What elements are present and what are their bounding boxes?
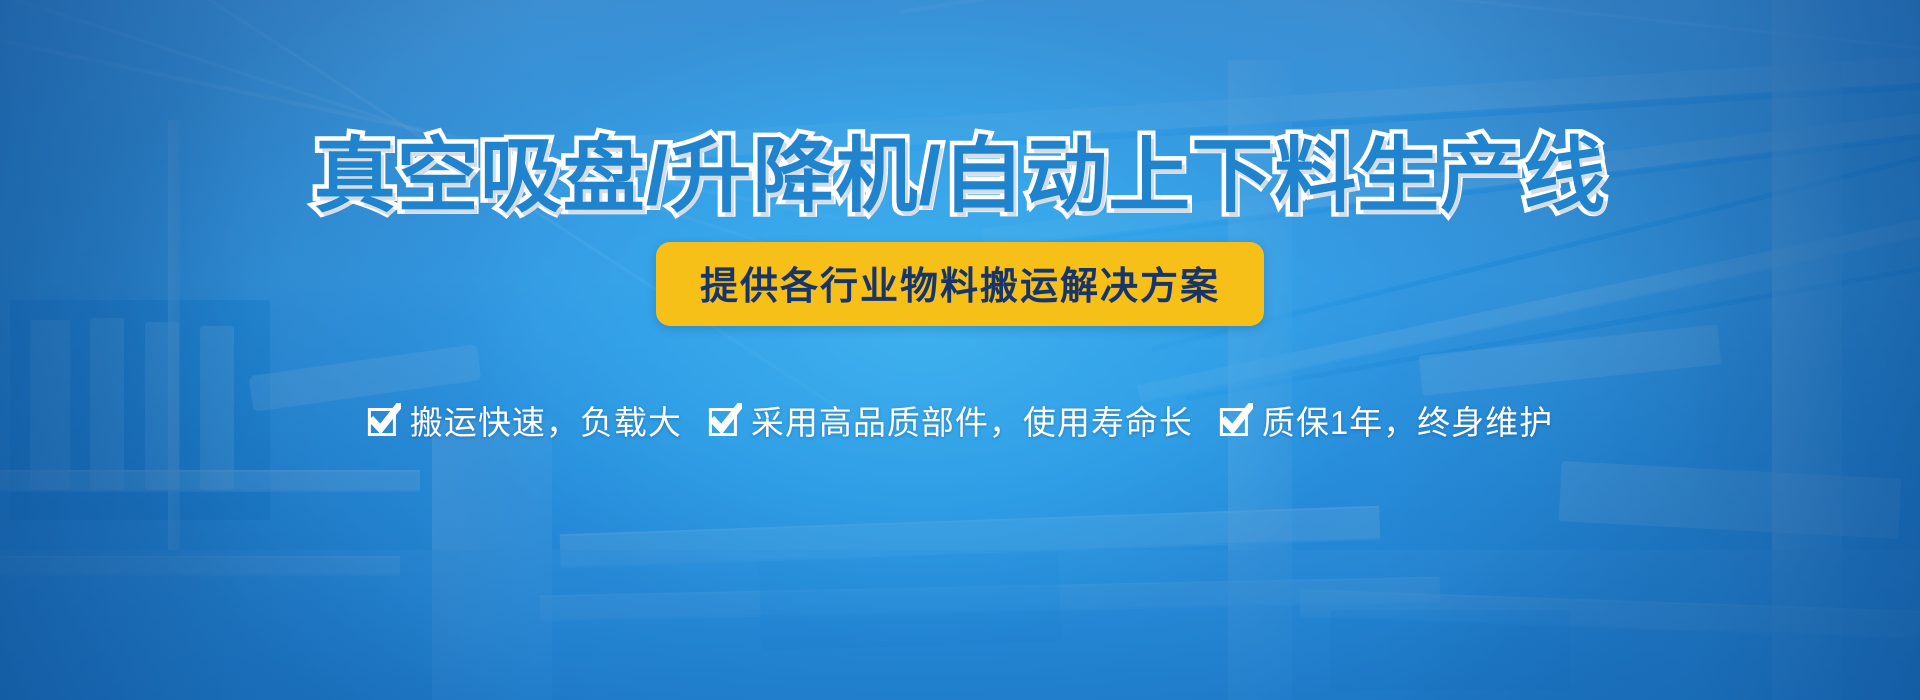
feature-label: 采用高品质部件，使用寿命长 bbox=[751, 396, 1193, 444]
checkbox-checked-icon bbox=[1219, 403, 1253, 437]
hero-banner: 真空吸盘/升降机/自动上下料生产线 提供各行业物料搬运解决方案 搬运快速，负载大 bbox=[0, 0, 1920, 700]
feature-label: 搬运快速，负载大 bbox=[410, 396, 682, 444]
checkbox-checked-icon bbox=[367, 403, 401, 437]
feature-item-3: 质保1年，终身维护 bbox=[1219, 396, 1553, 444]
feature-label: 质保1年，终身维护 bbox=[1262, 396, 1553, 444]
banner-content: 真空吸盘/升降机/自动上下料生产线 提供各行业物料搬运解决方案 搬运快速，负载大 bbox=[0, 0, 1920, 700]
feature-item-2: 采用高品质部件，使用寿命长 bbox=[708, 396, 1193, 444]
feature-item-1: 搬运快速，负载大 bbox=[367, 396, 682, 444]
feature-list: 搬运快速，负载大 采用高品质部件，使用寿命长 bbox=[367, 396, 1553, 444]
subtitle-pill: 提供各行业物料搬运解决方案 bbox=[656, 242, 1264, 326]
page-title: 真空吸盘/升降机/自动上下料生产线 bbox=[314, 136, 1607, 218]
checkbox-checked-icon bbox=[708, 403, 742, 437]
